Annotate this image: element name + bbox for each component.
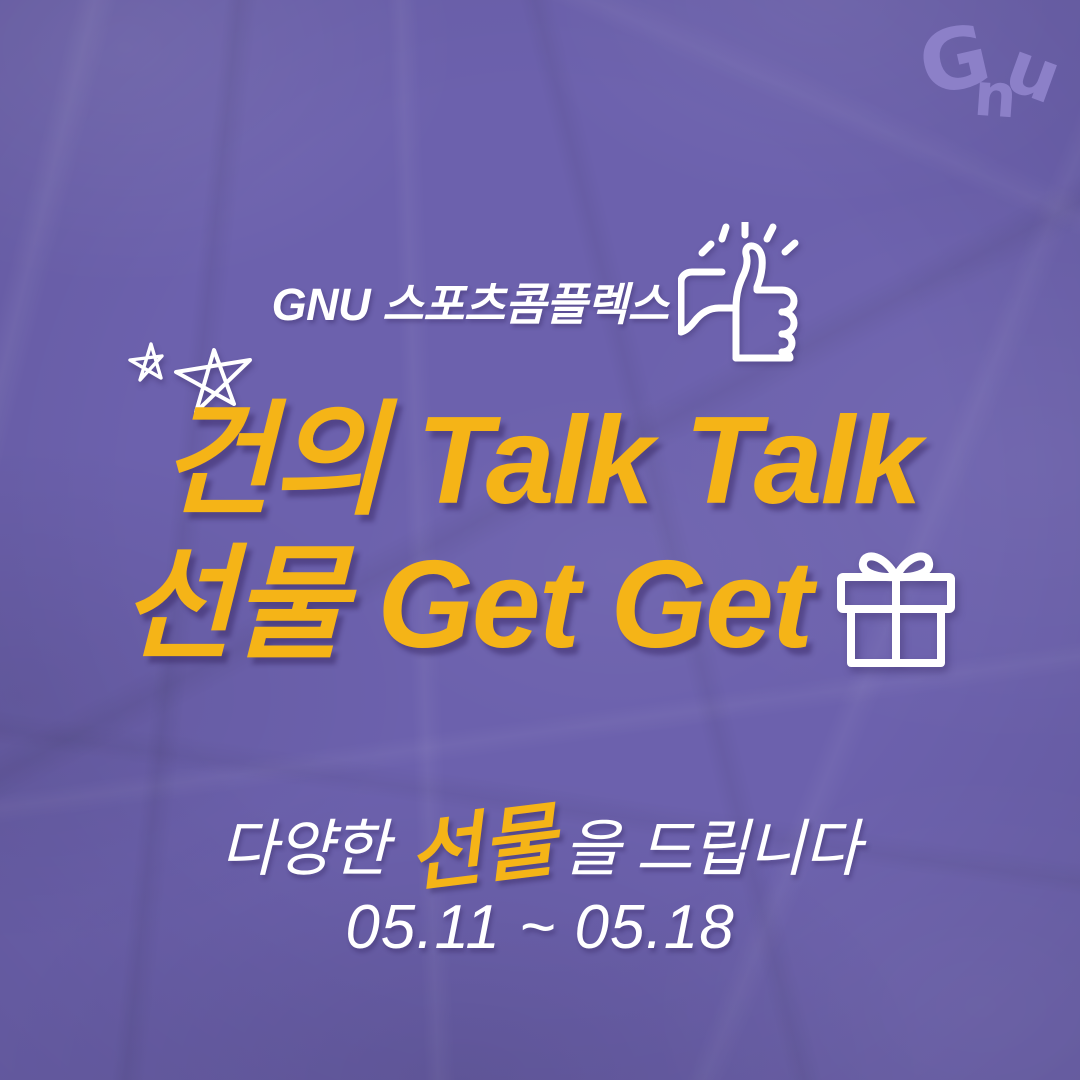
tagline: 다양한 선물 을 드립니다 bbox=[0, 778, 1080, 894]
thumbs-up-icon bbox=[678, 222, 808, 362]
tagline-after: 을 드립니다 bbox=[563, 798, 859, 888]
watermark-letter-n: n bbox=[972, 65, 1019, 128]
gift-box-icon bbox=[833, 547, 959, 669]
date-range-text: 05.11 ~ 05.18 bbox=[345, 893, 734, 962]
tagline-before: 다양한 bbox=[220, 798, 388, 888]
promo-poster: G n u GNU 스포츠콤플렉스 bbox=[0, 0, 1080, 1080]
headline-text-2: 선물 Get Get bbox=[121, 542, 811, 668]
headline-block: 건의 Talk Talk 선물 Get Get bbox=[0, 398, 1080, 669]
tagline-highlight: 선물 bbox=[400, 775, 562, 908]
headline-line-1: 건의 Talk Talk bbox=[0, 398, 1080, 524]
gnu-watermark: G n u bbox=[896, 8, 1066, 136]
headline-text-1: 건의 Talk Talk bbox=[160, 398, 920, 524]
date-range: 05.11 ~ 05.18 bbox=[0, 892, 1080, 963]
watermark-letter-g: G bbox=[911, 11, 997, 108]
headline-line-2: 선물 Get Get bbox=[0, 542, 1080, 668]
watermark-letter-u: u bbox=[997, 29, 1070, 114]
brand-title: GNU 스포츠콤플렉스 bbox=[272, 268, 669, 333]
